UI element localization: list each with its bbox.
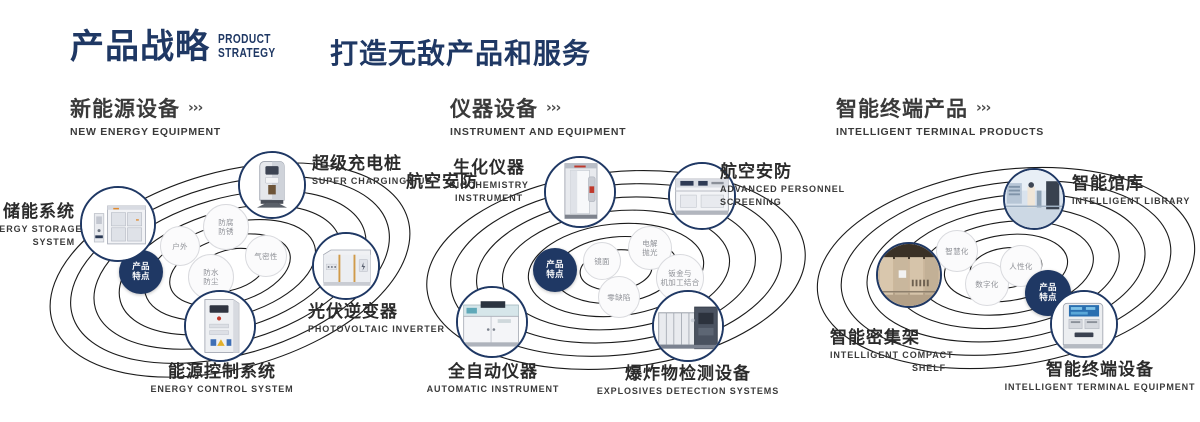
terminal-kiosk-icon — [1052, 292, 1116, 356]
node-label-compact-shelf: 智能密集架 INTELLIGENT COMPACT SHELF — [830, 328, 1010, 374]
section-title-en-instrument: INSTRUMENT AND EQUIPMENT — [450, 126, 626, 138]
node-label-en-intelligent-library: INTELLIGENT LIBRARY — [1072, 196, 1200, 207]
node-label-energy-storage: 储能系统 ENERGY STORAGE SYSTEM — [0, 202, 75, 248]
node-terminal-equipment[interactable] — [1050, 290, 1118, 358]
section-title-cn-new-energy: 新能源设备››› — [70, 96, 221, 122]
node-label-en-energy-storage-line2: SYSTEM — [0, 237, 75, 248]
page-title-english: PRODUCT STRATEGY — [218, 32, 280, 60]
node-label-en-compact-shelf-line2: SHELF — [830, 363, 946, 374]
section-title-en-new-energy: NEW ENERGY EQUIPMENT — [70, 126, 221, 138]
product-strategy-infographic: 产品战略 PRODUCT STRATEGY 打造无敌产品和服务 新能源设备›››… — [0, 0, 1200, 422]
pv-inverter-icon — [314, 234, 378, 298]
node-label-cn-automatic-instrument: 全自动仪器 — [406, 362, 580, 382]
feature-bubble-3: 零缺陷 — [598, 276, 640, 318]
feature-bubble-1-line1: 户外 — [172, 242, 188, 251]
node-label-cn-explosives-detection: 爆炸物检测设备 — [578, 364, 798, 384]
control-cabinet-icon — [186, 292, 254, 360]
section-header-instrument: 仪器设备››› INSTRUMENT AND EQUIPMENT — [450, 96, 626, 138]
compact-shelf-icon — [878, 244, 940, 306]
section-title-text-new-energy: 新能源设备 — [70, 97, 180, 121]
section-title-en-intelligent-terminal: INTELLIGENT TERMINAL PRODUCTS — [836, 126, 1044, 138]
node-label-explosives-detection: 爆炸物检测设备 EXPLOSIVES DETECTION SYSTEMS — [578, 364, 798, 397]
charging-pile-icon — [240, 153, 304, 217]
feature-bubble-3-line2: 防尘 — [203, 277, 219, 286]
automatic-instrument-icon — [458, 288, 526, 356]
chevrons-right-icon: ››› — [546, 96, 560, 121]
node-label-cn-compact-shelf: 智能密集架 — [830, 328, 1010, 348]
node-explosives-detection[interactable] — [652, 290, 724, 362]
orbit-cluster-new-energy: 户外 防腐防锈 防水防尘 气密性 产品特点 — [40, 150, 420, 380]
node-energy-control[interactable] — [184, 290, 256, 362]
node-biochemistry-instrument[interactable] — [544, 156, 616, 228]
feature-bubble-4: 气密性 — [245, 235, 287, 277]
node-label-en-automatic-instrument: AUTOMATIC INSTRUMENT — [406, 384, 580, 395]
node-label-en-energy-storage-line1: ENERGY STORAGE — [0, 224, 75, 235]
node-label-cn-aviation-security-left: 航空安防 — [406, 172, 486, 192]
biochem-scanner-icon — [546, 158, 614, 226]
feature-bubble-1: 镜面 — [583, 242, 621, 280]
page-slogan: 打造无敌产品和服务 — [330, 32, 591, 72]
explosive-detector-icon — [654, 292, 722, 360]
core-bubble-line1: 产品 — [546, 260, 564, 270]
node-intelligent-library[interactable] — [1003, 168, 1065, 230]
library-room-icon — [1005, 170, 1063, 228]
node-compact-shelf[interactable] — [876, 242, 942, 308]
section-header-new-energy: 新能源设备››› NEW ENERGY EQUIPMENT — [70, 96, 221, 138]
feature-bubble-2-line1: 电解 — [642, 239, 658, 248]
feature-bubble-2-line1: 防腐 — [218, 218, 234, 227]
feature-bubble-2-line2: 抛光 — [642, 248, 658, 257]
feature-bubble-4-line1: 气密性 — [254, 252, 277, 261]
section-title-cn-intelligent-terminal: 智能终端产品››› — [836, 96, 1044, 122]
core-bubble-line1: 产品 — [132, 262, 150, 272]
orbit-cluster-instrument: 产品特点 镜面 电解抛光 零缺陷 钣金与机加工结合 — [420, 150, 810, 385]
node-pv-inverter[interactable] — [312, 232, 380, 300]
page-header: 产品战略 PRODUCT STRATEGY 打造无敌产品和服务 — [0, 0, 1200, 92]
node-label-aviation-security-left: 航空安防 — [406, 172, 486, 192]
node-label-en-energy-control: ENERGY CONTROL SYSTEM — [82, 384, 362, 395]
page-title: 产品战略 — [70, 27, 210, 67]
page-title-english-line1: PRODUCT — [218, 32, 280, 46]
page-title-english-line2: STRATEGY — [218, 46, 280, 60]
node-label-energy-control: 能源控制系统 ENERGY CONTROL SYSTEM — [82, 362, 362, 395]
node-label-en-biochemistry-instrument-line2: INSTRUMENT — [424, 193, 554, 204]
node-label-terminal-equipment: 智能终端设备 INTELLIGENT TERMINAL EQUIPMENT — [1000, 360, 1200, 393]
node-energy-storage[interactable] — [80, 186, 156, 262]
orbit-cluster-intelligent-terminal: 智慧化 数字化 人性化 产品特点 — [810, 150, 1200, 390]
node-label-cn-energy-storage: 储能系统 — [0, 202, 75, 222]
node-label-intelligent-library: 智能馆库 INTELLIGENT LIBRARY — [1072, 174, 1200, 207]
section-title-cn-instrument: 仪器设备››› — [450, 96, 626, 122]
section-title-text-instrument: 仪器设备 — [450, 97, 538, 121]
node-label-en-explosives-detection: EXPLOSIVES DETECTION SYSTEMS — [578, 386, 798, 397]
node-automatic-instrument[interactable] — [456, 286, 528, 358]
core-bubble-instrument: 产品特点 — [533, 248, 577, 292]
feature-bubble-3-line1: 防水 — [203, 268, 219, 277]
feature-bubble-4-line1: 钣金与 — [668, 269, 691, 278]
node-charging-hub[interactable] — [238, 151, 306, 219]
feature-bubble-3-line1: 零缺陷 — [607, 293, 630, 302]
chevrons-right-icon: ››› — [976, 96, 990, 121]
node-label-en-terminal-equipment: INTELLIGENT TERMINAL EQUIPMENT — [1000, 382, 1200, 393]
chevrons-right-icon: ››› — [188, 96, 202, 121]
energy-storage-cabinet-icon — [82, 188, 154, 260]
section-title-text-intelligent-terminal: 智能终端产品 — [836, 97, 968, 121]
node-label-cn-energy-control: 能源控制系统 — [82, 362, 362, 382]
feature-bubble-1: 智慧化 — [936, 230, 978, 272]
feature-bubble-2-line1: 数字化 — [975, 280, 998, 289]
feature-bubble-1-line1: 镜面 — [594, 257, 610, 266]
feature-bubble-4-line2: 机加工结合 — [661, 278, 700, 287]
core-bubble-line2: 特点 — [132, 272, 150, 282]
feature-bubble-3-line1: 人性化 — [1009, 262, 1032, 271]
core-bubble-line2: 特点 — [546, 270, 564, 280]
feature-bubble-2-line2: 防锈 — [218, 227, 234, 236]
node-label-en-compact-shelf-line1: INTELLIGENT COMPACT — [830, 350, 1010, 361]
node-label-automatic-instrument: 全自动仪器 AUTOMATIC INSTRUMENT — [406, 362, 580, 395]
feature-bubble-1-line1: 智慧化 — [945, 247, 968, 256]
node-label-cn-intelligent-library: 智能馆库 — [1072, 174, 1200, 194]
node-label-cn-terminal-equipment: 智能终端设备 — [1000, 360, 1200, 380]
section-header-intelligent-terminal: 智能终端产品››› INTELLIGENT TERMINAL PRODUCTS — [836, 96, 1044, 138]
